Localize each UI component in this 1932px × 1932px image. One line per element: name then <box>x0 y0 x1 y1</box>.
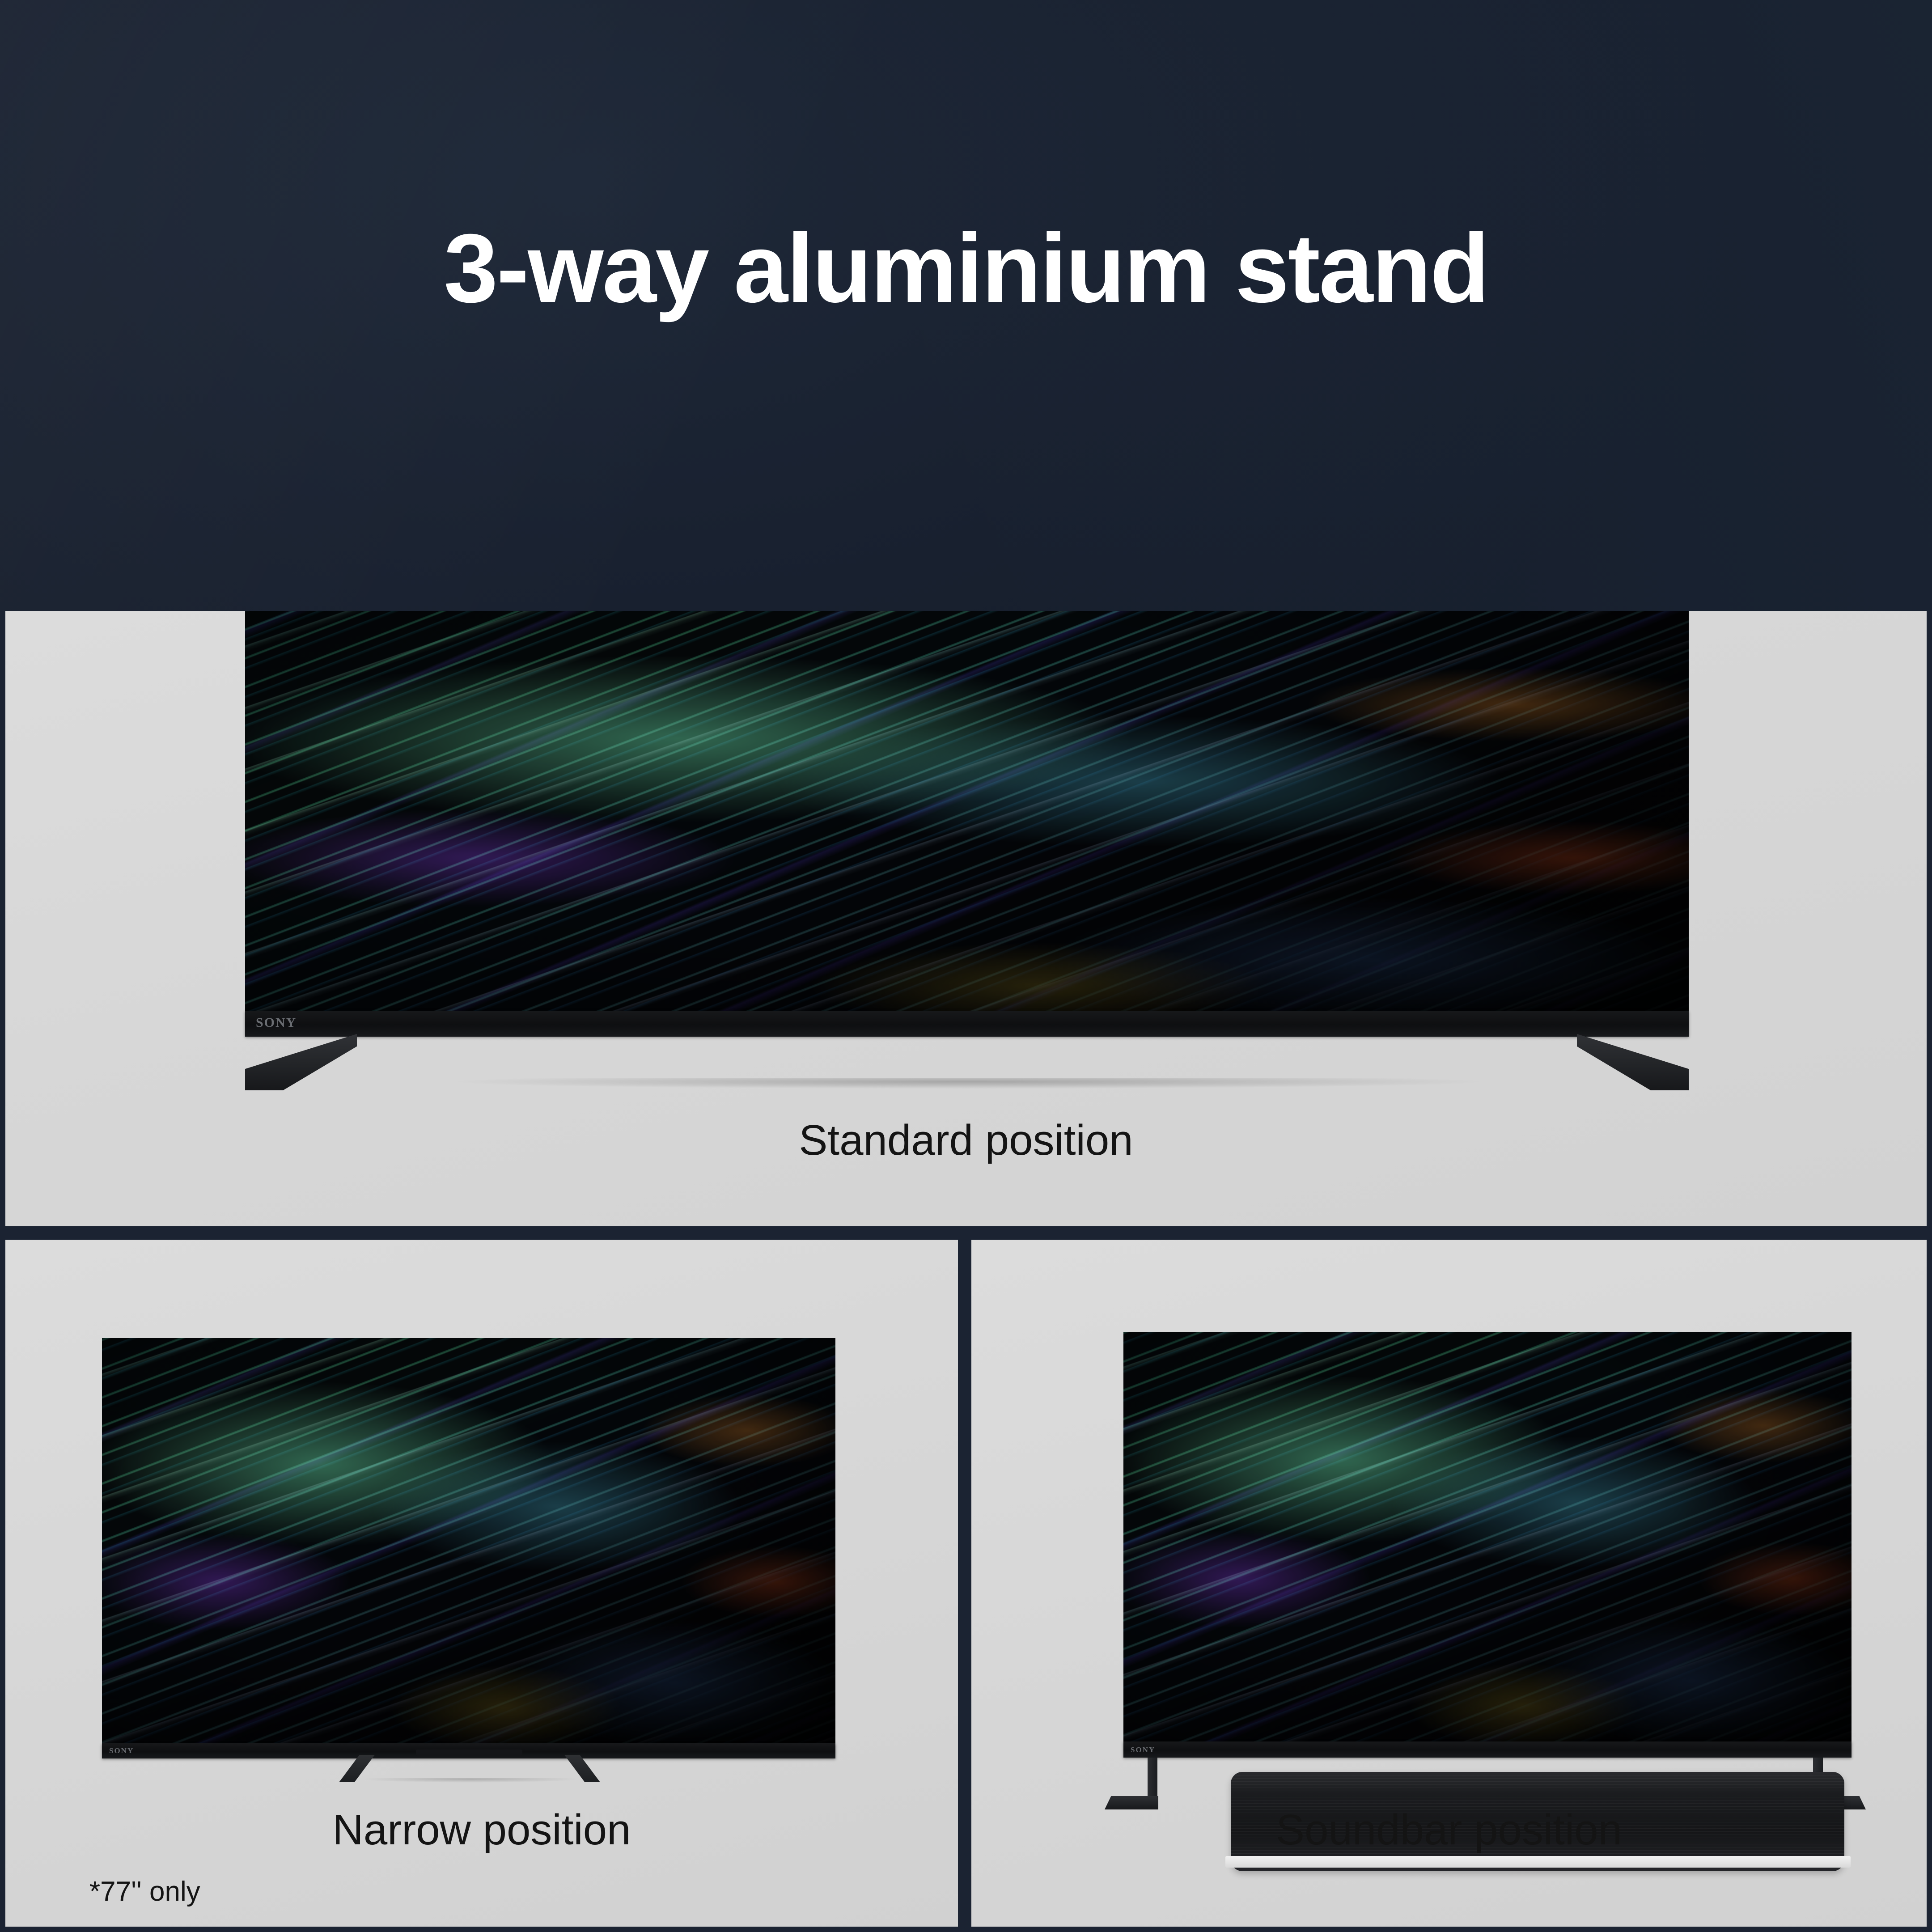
soundbar-base-plate <box>1225 1856 1851 1868</box>
product-feature-graphic: 3-way aluminium stand SONY Standard posi… <box>0 0 1932 1932</box>
tv-screen-standard <box>245 611 1689 1037</box>
tv-shadow-narrow <box>313 1778 626 1788</box>
tv-bottom-bezel-soundbar: SONY <box>1123 1741 1851 1758</box>
tv-shadow-standard <box>250 1078 1686 1097</box>
tv-soundbar-position: SONY <box>1123 1332 1851 1758</box>
page-title: 3-way aluminium stand <box>0 220 1932 318</box>
divider-vertical <box>958 1240 971 1932</box>
caption-soundbar-position: Soundbar position <box>971 1809 1927 1851</box>
sony-logo: SONY <box>1131 1746 1155 1754</box>
stand-crossbar-narrow <box>416 1750 522 1756</box>
tv-standard-position: SONY <box>245 611 1689 1037</box>
sony-logo: SONY <box>109 1746 134 1755</box>
sony-logo: SONY <box>256 1015 297 1030</box>
border-right <box>1927 611 1932 1932</box>
header-banner: 3-way aluminium stand <box>0 0 1932 611</box>
tv-narrow-position: SONY <box>102 1338 835 1758</box>
stand-leg-left-soundbar <box>1105 1758 1164 1809</box>
tv-screen-soundbar <box>1123 1332 1851 1758</box>
tv-bottom-bezel-standard: SONY <box>245 1011 1689 1037</box>
border-bottom <box>0 1927 1932 1932</box>
screen-vignette-soundbar <box>1123 1332 1851 1758</box>
screen-vignette-standard <box>245 611 1689 1037</box>
stand-leg-post <box>1148 1758 1157 1799</box>
caption-standard-position: Standard position <box>0 1119 1932 1162</box>
divider-horizontal <box>0 1226 1932 1240</box>
caption-narrow-position: Narrow position <box>5 1809 958 1851</box>
screen-vignette-narrow <box>102 1338 835 1758</box>
tv-screen-narrow <box>102 1338 835 1758</box>
footnote-size-restriction: *77'' only <box>89 1876 200 1907</box>
border-left <box>0 611 5 1932</box>
